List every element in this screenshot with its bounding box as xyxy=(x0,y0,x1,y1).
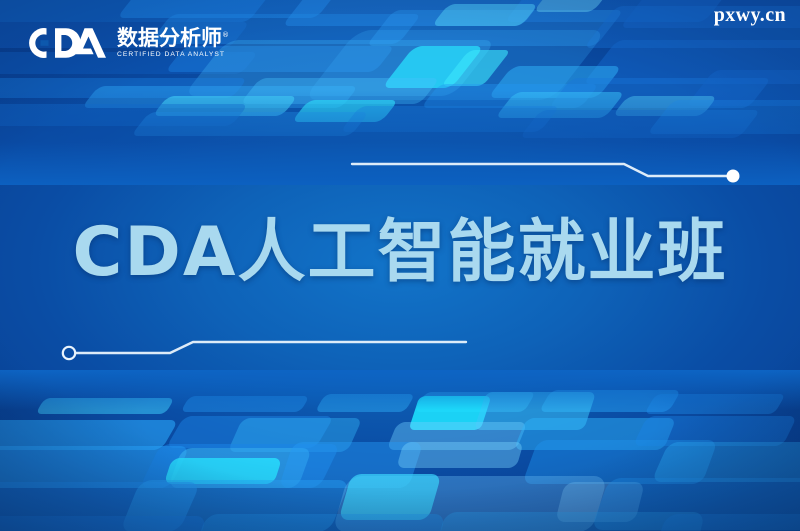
logo-text-block: 数据分析师® CERTIFIED DATA ANALYST xyxy=(117,28,229,60)
page-title: CDA人工智能就业班 xyxy=(0,219,800,287)
logo-trademark-icon: ® xyxy=(222,31,229,39)
logo-english-subtitle: CERTIFIED DATA ANALYST xyxy=(117,52,225,59)
cda-logo[interactable]: 数据分析师® CERTIFIED DATA ANALYST xyxy=(28,26,229,60)
site-watermark: pxwy.cn xyxy=(714,4,786,27)
banner-root: 数据分析师® CERTIFIED DATA ANALYST pxwy.cn CD… xyxy=(0,0,800,531)
logo-chinese-name: 数据分析师® xyxy=(117,28,229,49)
cda-logo-mark-icon xyxy=(28,26,108,60)
logo-chinese-name-text: 数据分析师 xyxy=(117,26,222,50)
